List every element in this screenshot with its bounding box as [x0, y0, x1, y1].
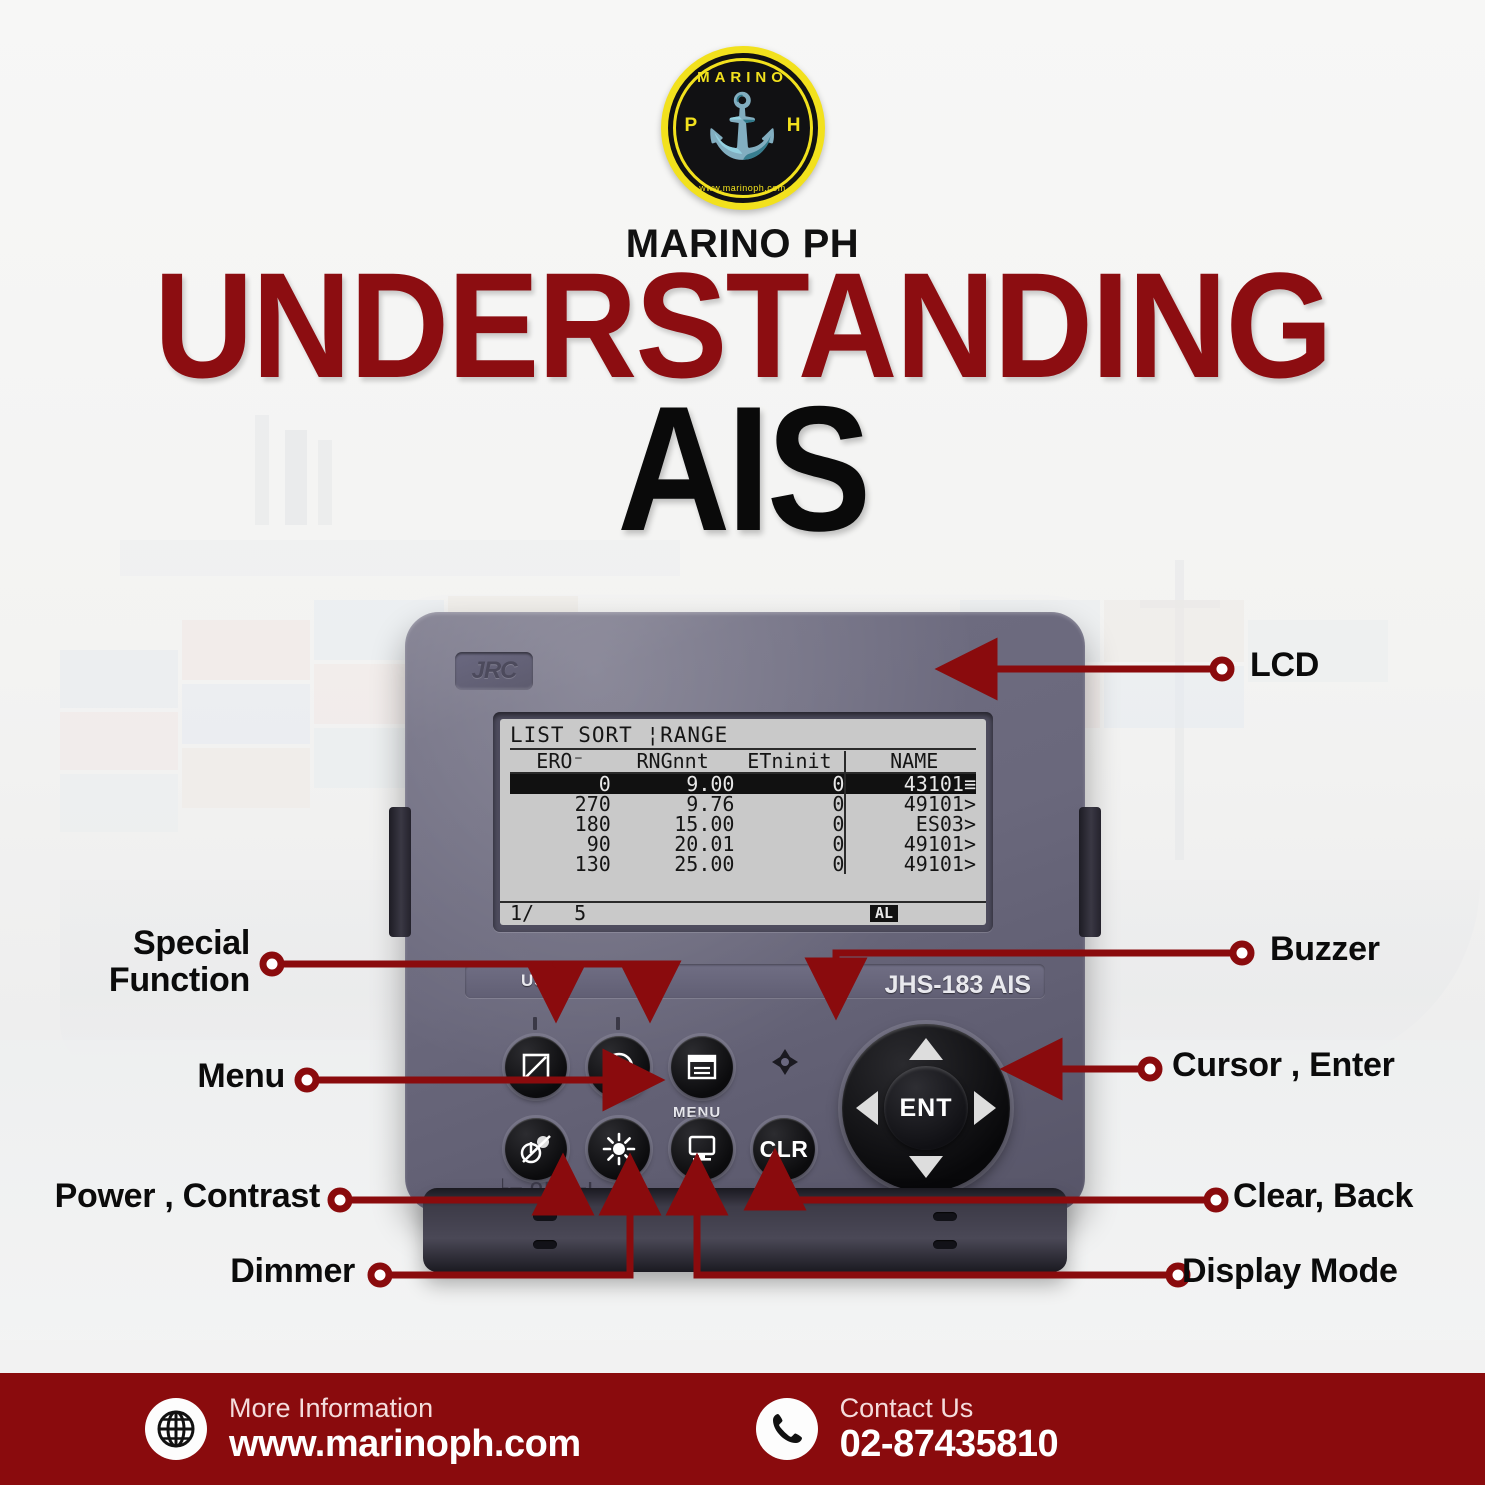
device-nameplate: USER SUS JHS-183 AIS [465, 964, 1045, 998]
screw-hole [533, 1240, 557, 1249]
cell-ero: 270 [510, 794, 611, 814]
logo-text-marino: MARINO [697, 69, 788, 86]
footer-website[interactable]: www.marinoph.com [229, 1424, 581, 1466]
cursor-pad[interactable]: ENT [842, 1024, 1010, 1192]
brightness-sun-icon [602, 1132, 636, 1166]
lcd-header-rng: RNGnnt [611, 751, 735, 773]
screw-hole [933, 1240, 957, 1249]
callout-dimmer: Dimmer [40, 1253, 355, 1290]
tick-sus [616, 1017, 620, 1030]
cell-rng: 9.76 [611, 794, 735, 814]
lcd-header-et: ETninit [734, 751, 845, 773]
page-title-line2: AIS [89, 385, 1396, 552]
footer-info-block: More Information www.marinoph.com [145, 1393, 581, 1466]
buzzer-hole [769, 1046, 801, 1078]
clear-button[interactable]: CLR [753, 1118, 815, 1180]
callout-cursor-enter: Cursor , Enter [1172, 1047, 1395, 1084]
callout-power-contrast: Power , Contrast [0, 1178, 320, 1215]
cell-rng: 20.01 [611, 834, 735, 854]
footer-contact-block: Contact Us 02-87435810 [756, 1393, 1059, 1466]
cell-et: 0 [734, 854, 845, 874]
contrast-icon [521, 1052, 551, 1082]
brand-header: MARINO P H ⚓ www.marinoph.com MARINO PH [0, 46, 1485, 267]
side-bracket-right [1079, 807, 1101, 937]
callout-display-mode: Display Mode [1182, 1253, 1398, 1290]
cell-et: 0 [734, 834, 845, 854]
cell-rng: 15.00 [611, 814, 735, 834]
cell-rng: 9.00 [611, 773, 735, 794]
logo-url: www.marinoph.com [699, 183, 786, 193]
contrast-button[interactable] [505, 1036, 567, 1098]
cell-ero: 0 [510, 773, 611, 794]
cell-et: 0 [734, 794, 845, 814]
lcd-target-table: ERO⁻ RNGnnt ETninit NAME 0 9.00 0 43101≡… [510, 751, 976, 874]
globe-icon [145, 1398, 207, 1460]
lcd-header-name: NAME [845, 751, 976, 773]
cell-ero: 130 [510, 854, 611, 874]
footer-info-small: More Information [229, 1393, 581, 1424]
cell-name: 49101> [845, 794, 976, 814]
table-row[interactable]: 180 15.00 0 ES03> [510, 814, 976, 834]
lcd-page-total: 5 [574, 903, 588, 923]
lcd-status-bar: 1/ 5 AL [500, 901, 986, 923]
power-contrast-icon [519, 1133, 553, 1165]
footer-phone[interactable]: 02-87435810 [840, 1424, 1059, 1466]
table-row[interactable]: 270 9.76 0 49101> [510, 794, 976, 814]
logo-text-h: H [787, 115, 801, 137]
table-row[interactable]: 0 9.00 0 43101≡ [510, 773, 976, 794]
phone-icon [756, 1398, 818, 1460]
lcd-screen[interactable]: LIST SORT ¦RANGE ERO⁻ RNGnnt ETninit NAM… [500, 719, 986, 925]
display-mode-button[interactable] [671, 1118, 733, 1180]
power-button[interactable] [505, 1118, 567, 1180]
cursor-down-icon[interactable] [909, 1156, 943, 1178]
lcd-bezel: LIST SORT ¦RANGE ERO⁻ RNGnnt ETninit NAM… [493, 712, 993, 932]
menu-button[interactable] [671, 1036, 733, 1098]
dimmer-button[interactable] [588, 1118, 650, 1180]
cell-name: 49101> [845, 854, 976, 874]
cursor-right-icon[interactable] [974, 1091, 996, 1125]
screw-hole [533, 1212, 557, 1221]
lcd-title-row: LIST SORT ¦RANGE [510, 725, 976, 750]
lcd-page-index: 1/ [510, 903, 534, 923]
cursor-left-icon[interactable] [856, 1091, 878, 1125]
mounting-bracket [423, 1188, 1067, 1272]
sus-button[interactable] [588, 1036, 650, 1098]
cell-et: 0 [734, 814, 845, 834]
cell-name: ES03> [845, 814, 976, 834]
globe-icon-svg [156, 1409, 196, 1449]
cell-ero: 90 [510, 834, 611, 854]
menu-list-icon [687, 1054, 717, 1080]
callout-special-function: Special Function [40, 925, 250, 998]
buzzer-icon [769, 1046, 801, 1078]
callout-menu: Menu [40, 1058, 285, 1095]
marino-ph-logo: MARINO P H ⚓ www.marinoph.com [661, 46, 825, 210]
device-model: JHS-183 AIS [885, 971, 1031, 1000]
cell-rng: 25.00 [611, 854, 735, 874]
table-row[interactable]: 130 25.00 0 49101> [510, 854, 976, 874]
monitor-icon [687, 1135, 717, 1163]
label-sus: SUS [630, 971, 668, 991]
callout-lcd: LCD [1250, 647, 1319, 684]
tick-user [533, 1017, 537, 1030]
enter-button[interactable]: ENT [884, 1066, 968, 1150]
status-badge: AL [870, 905, 898, 922]
logo-text-p: P [685, 115, 698, 137]
footer-contact-small: Contact Us [840, 1393, 1059, 1424]
phone-icon-svg [769, 1411, 805, 1447]
ais-transponder-device: JRC LIST SORT ¦RANGE ERO⁻ RNGnnt ETninit… [405, 612, 1085, 1212]
clear-button-label: CLR [760, 1136, 809, 1163]
table-row[interactable]: 90 20.01 0 49101> [510, 834, 976, 854]
target-circle-icon [603, 1051, 635, 1083]
side-bracket-left [389, 807, 411, 937]
cell-ero: 180 [510, 814, 611, 834]
lcd-header-row: ERO⁻ RNGnnt ETninit NAME [510, 751, 976, 773]
anchor-icon: ⚓ [704, 96, 781, 158]
screw-hole [933, 1212, 957, 1221]
label-user: USER [521, 971, 572, 991]
callout-clear-back: Clear, Back [1233, 1178, 1413, 1215]
callout-buzzer: Buzzer [1270, 931, 1380, 968]
footer-bar: More Information www.marinoph.com Contac… [0, 1373, 1485, 1485]
cell-name: 43101≡ [845, 773, 976, 794]
enter-button-label: ENT [900, 1094, 953, 1123]
lcd-header-ero: ERO⁻ [510, 751, 611, 773]
cell-name: 49101> [845, 834, 976, 854]
jrc-logo: JRC [455, 652, 533, 690]
cursor-up-icon[interactable] [909, 1038, 943, 1060]
cell-et: 0 [734, 773, 845, 794]
